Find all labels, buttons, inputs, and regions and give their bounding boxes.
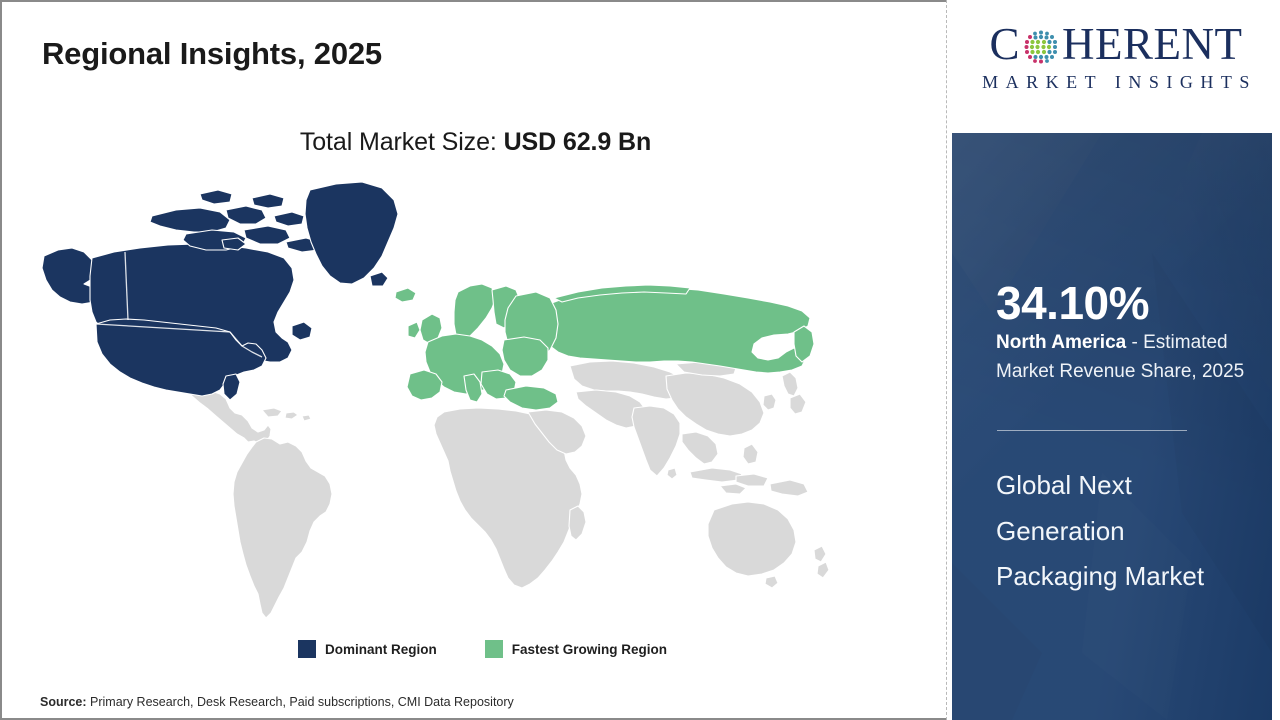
legend-label-dominant: Dominant Region [325,642,437,657]
logo-tagline: MARKET INSIGHTS [966,72,1266,93]
logo-wordmark: C [966,22,1266,67]
legend-swatch-fastest-growing [485,640,503,658]
map-legend: Dominant Region Fastest Growing Region [298,640,667,658]
market-size-value: USD 62.9 Bn [504,128,652,156]
panel-texture [952,133,1272,720]
legend-swatch-dominant [298,640,316,658]
legend-label-fastest-growing: Fastest Growing Region [512,642,667,657]
source-note: Source: Primary Research, Desk Research,… [40,695,514,709]
legend-item-dominant: Dominant Region [298,640,437,658]
revenue-share-description: North America - Estimated Market Revenue… [996,328,1266,387]
globe-dots-icon [1021,27,1061,67]
logo-letter-c: C [990,22,1021,67]
panel-divider-rule [997,430,1187,431]
left-content-panel: Regional Insights, 2025 Total Market Siz… [0,0,947,720]
infographic-page: Regional Insights, 2025 Total Market Siz… [0,0,1280,720]
total-market-size: Total Market Size: USD 62.9 Bn [2,128,949,157]
source-label: Source: [40,695,87,709]
market-name: Global Next Generation Packaging Market [996,463,1246,600]
source-text: Primary Research, Desk Research, Paid su… [87,695,514,709]
map-region-dominant [42,182,398,400]
panel-divider [946,0,947,720]
brand-logo: C [952,0,1280,133]
highlight-panel: 34.10% North America - Estimated Market … [952,133,1272,720]
world-map [30,180,830,620]
logo-inner: C [966,22,1266,93]
market-size-label: Total Market Size: [300,128,504,156]
revenue-share-percent: 34.10% [996,280,1149,326]
world-map-svg [30,180,830,620]
map-region-rest-of-world [172,361,829,618]
legend-item-fastest-growing: Fastest Growing Region [485,640,667,658]
page-title: Regional Insights, 2025 [42,36,382,72]
region-name: North America [996,332,1126,353]
logo-wordmark-rest: HERENT [1062,22,1242,67]
